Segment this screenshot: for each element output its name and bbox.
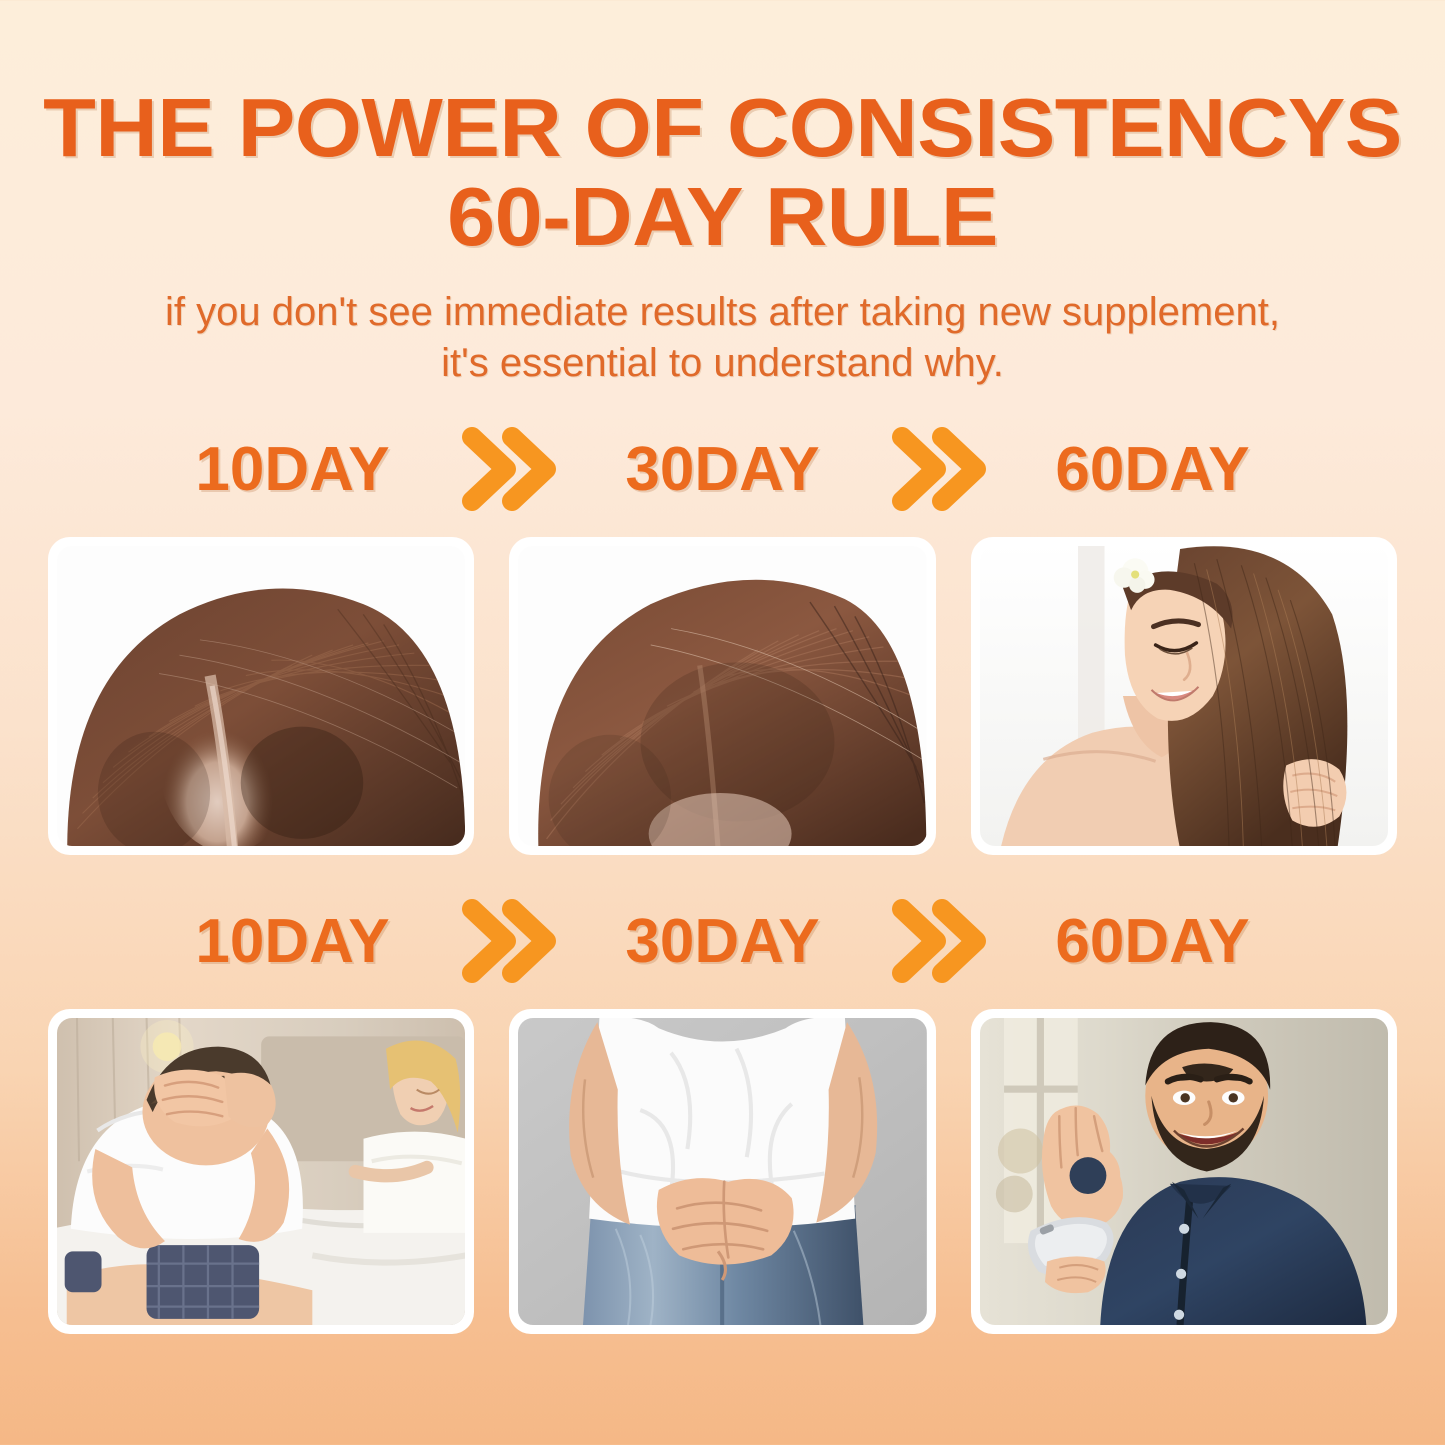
double-chevron-right-icon [443, 895, 573, 987]
photo-row-mens-health [0, 1009, 1445, 1334]
double-chevron-right-icon [443, 423, 573, 515]
photo-card-men-10day [48, 1009, 474, 1334]
timeline-1-step-30day: 30DAY [573, 434, 873, 505]
subtitle: if you don't see immediate results after… [0, 287, 1445, 389]
photo-men-10day [57, 1018, 465, 1325]
double-chevron-right-icon [873, 423, 1003, 515]
double-chevron-right-icon [873, 895, 1003, 987]
timeline-1-step-10day: 10DAY [143, 434, 443, 505]
header: THE POWER OF CONSISTENCYS 60-DAY RULE if… [0, 0, 1445, 389]
timeline-2-step-10day: 10DAY [143, 906, 443, 977]
subtitle-line-2: it's essential to understand why. [0, 338, 1445, 389]
photo-men-60day [980, 1018, 1388, 1325]
photo-card-men-30day [509, 1009, 935, 1334]
timeline-2-step-30day: 30DAY [573, 906, 873, 977]
photo-card-hair-10day [48, 537, 474, 855]
timeline-1-step-60day: 60DAY [1003, 434, 1303, 505]
photo-hair-10day [57, 546, 465, 846]
photo-row-hair [0, 537, 1445, 855]
page-title-line-1: THE POWER OF CONSISTENCYS [0, 88, 1445, 169]
photo-men-30day [518, 1018, 926, 1325]
photo-card-hair-60day [971, 537, 1397, 855]
subtitle-line-1: if you don't see immediate results after… [0, 287, 1445, 338]
timeline-row-2: 10DAY 30DAY 60DAY [0, 895, 1445, 987]
page-title-line-2: 60-DAY RULE [0, 177, 1445, 258]
photo-hair-30day [518, 546, 926, 846]
photo-card-men-60day [971, 1009, 1397, 1334]
photo-hair-60day [980, 546, 1388, 846]
timeline-2-step-60day: 60DAY [1003, 906, 1303, 977]
photo-card-hair-30day [509, 537, 935, 855]
timeline-row-1: 10DAY 30DAY 60DAY [0, 423, 1445, 515]
